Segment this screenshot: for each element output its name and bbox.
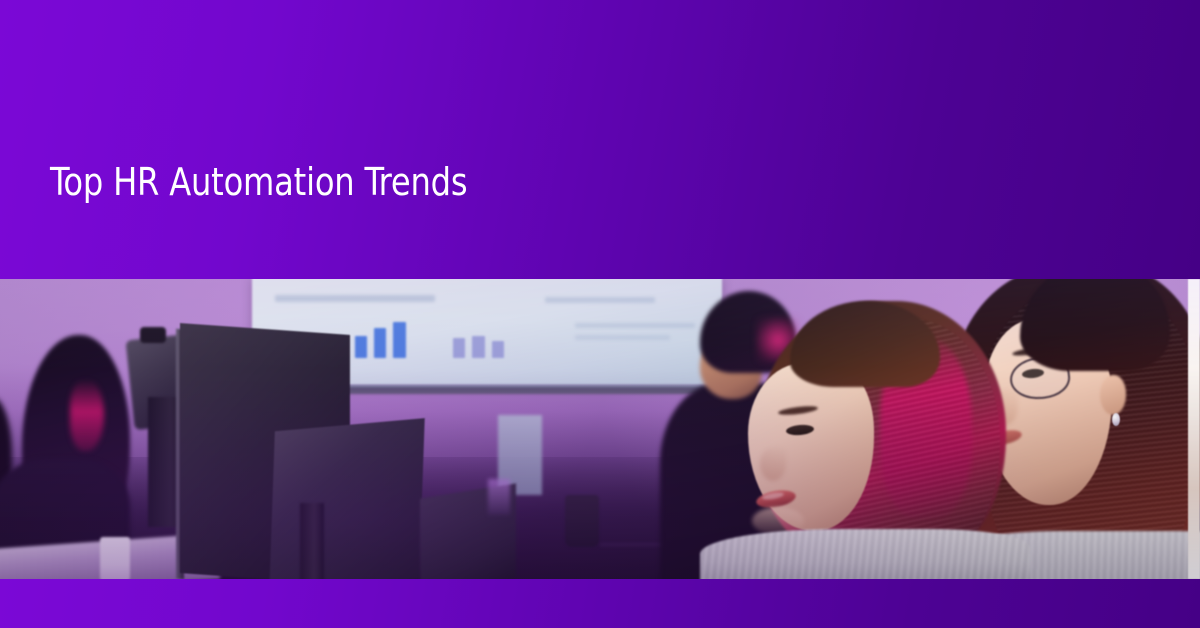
header-gradient-band: Top HR Automation Trends Driving Workpla… <box>0 0 1200 279</box>
second-woman-fringe <box>1020 279 1170 371</box>
earring-icon <box>1112 413 1120 426</box>
left-colleague-pink-light <box>70 379 104 451</box>
slide-body-text-1 <box>575 323 695 328</box>
front-woman-sweater <box>700 529 1030 579</box>
slide-bar-blue-1 <box>355 336 367 358</box>
dark-mug <box>565 495 599 547</box>
second-monitor <box>269 418 424 579</box>
second-woman-ear <box>1100 375 1126 415</box>
slide-bar-pale-3 <box>472 336 485 358</box>
slide-heading-text <box>275 295 435 302</box>
slide-bar-blue-3 <box>393 322 406 358</box>
slide-body-text-2 <box>575 335 670 340</box>
second-monitor-stand <box>300 503 324 579</box>
desk-stationery <box>488 479 510 515</box>
slide-bar-pale-4 <box>492 341 504 358</box>
webcam-icon <box>140 327 166 343</box>
slide-bar-blue-2 <box>374 328 386 358</box>
front-woman-nose <box>760 447 786 481</box>
social-banner: Top HR Automation Trends Driving Workpla… <box>0 0 1200 628</box>
slide-bar-pale-2 <box>453 338 465 358</box>
headline-line-1: Top HR Automation Trends <box>50 156 802 208</box>
hero-photo <box>0 279 1200 579</box>
slide-heading-text-right <box>545 297 655 303</box>
footer-gradient-band <box>0 579 1200 628</box>
photo-right-edge-strip <box>1188 279 1200 579</box>
paper-cup <box>100 537 130 579</box>
